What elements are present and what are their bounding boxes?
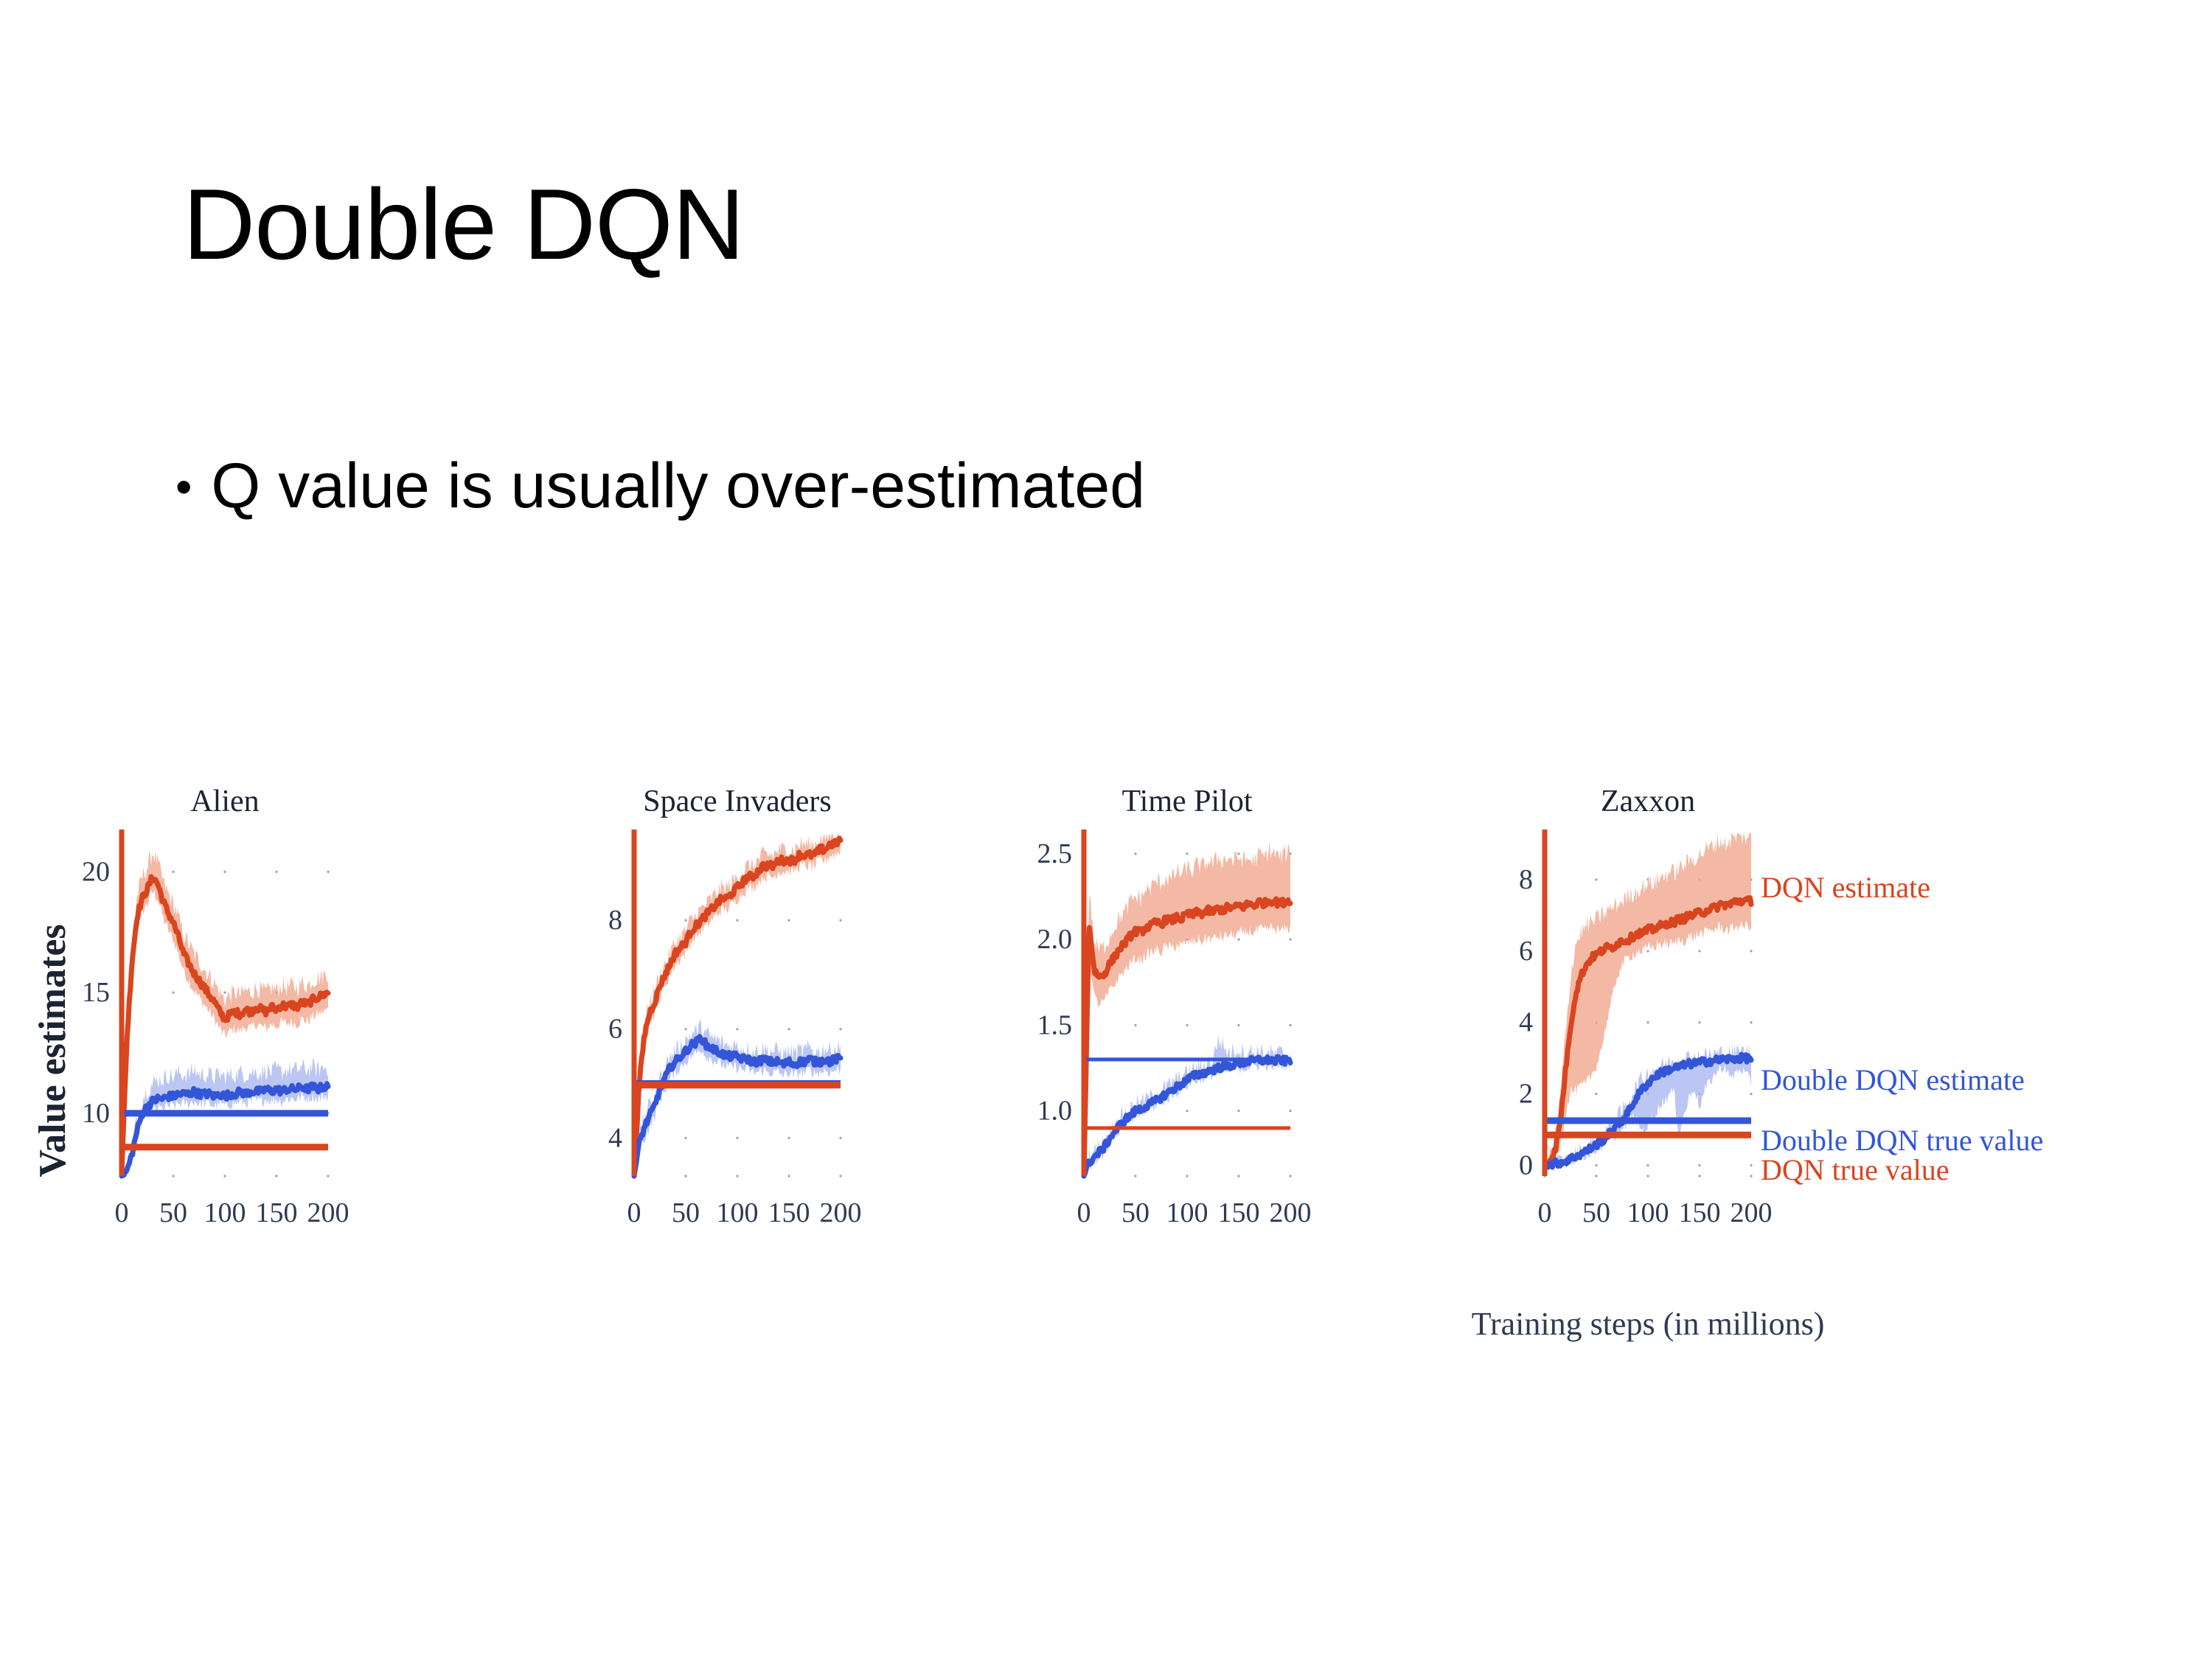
grid-dot: [1646, 1175, 1649, 1177]
series-line-double-dqn-estimate: [634, 1037, 841, 1176]
grid-dot: [1595, 1164, 1597, 1166]
y-tick-label: 1.0: [1037, 1096, 1073, 1127]
grid-dot: [1646, 950, 1649, 952]
legend-label-double-dqn-true-value: Double DQN true value: [1761, 1124, 2043, 1157]
y-axis-label: Value estimates: [32, 924, 74, 1177]
confidence-band-dqn: [122, 850, 328, 1173]
grid-dot: [736, 1175, 738, 1177]
grid-dot: [223, 871, 226, 873]
grid-dot: [839, 1137, 841, 1139]
y-tick-label: 15: [82, 977, 110, 1008]
grid-dot: [1595, 1175, 1597, 1177]
grid-dot: [1698, 1164, 1700, 1166]
grid-dot: [1237, 1110, 1239, 1112]
value-estimates-figure: Alien101520050100150200Space Invaders468…: [29, 752, 2183, 1416]
x-tick-label: 100: [717, 1197, 759, 1228]
grid-dot: [1237, 939, 1239, 941]
x-tick-label: 0: [627, 1197, 641, 1228]
grid-dot: [1134, 1175, 1136, 1177]
y-tick-label: 4: [1519, 1007, 1533, 1038]
grid-dot: [1698, 1175, 1700, 1177]
grid-dot: [1186, 1024, 1188, 1026]
y-tick-label: 20: [82, 856, 110, 887]
grid-dot: [684, 1137, 686, 1139]
x-tick-label: 0: [1077, 1197, 1091, 1228]
legend-label-double-dqn-estimate: Double DQN estimate: [1761, 1063, 2025, 1096]
grid-dot: [787, 1137, 790, 1139]
x-tick-label: 50: [159, 1197, 187, 1228]
grid-dot: [223, 992, 226, 994]
grid-dot: [1237, 1175, 1239, 1177]
chart-panel-space-invaders: Space Invaders468050100150200: [608, 785, 862, 1228]
grid-dot: [275, 1175, 277, 1177]
grid-dot: [1646, 1164, 1649, 1166]
grid-dot: [1237, 1024, 1239, 1026]
grid-dot: [1595, 878, 1597, 880]
grid-dot: [787, 919, 790, 921]
x-tick-label: 50: [1582, 1197, 1610, 1228]
grid-dot: [787, 1028, 790, 1030]
grid-dot: [1289, 939, 1291, 941]
x-tick-label: 0: [115, 1197, 129, 1228]
chart-title: Time Pilot: [1121, 785, 1252, 818]
grid-dot: [1750, 1175, 1752, 1177]
series-line-dqn-estimate: [634, 838, 841, 1176]
grid-dot: [736, 1028, 738, 1030]
x-tick-label: 100: [204, 1197, 246, 1228]
y-tick-label: 2.5: [1037, 838, 1073, 869]
confidence-band-double-dqn: [634, 1018, 841, 1176]
x-axis-label: Training steps (in millions): [1472, 1306, 1825, 1342]
grid-dot: [684, 1175, 686, 1177]
chart-panel-alien: Alien101520050100150200: [82, 785, 349, 1228]
y-tick-label: 0: [1519, 1150, 1533, 1180]
x-tick-label: 150: [1679, 1197, 1721, 1228]
x-tick-label: 150: [1218, 1197, 1260, 1228]
grid-dot: [1134, 852, 1136, 855]
y-tick-label: 8: [1519, 864, 1533, 895]
grid-dot: [684, 919, 686, 921]
grid-dot: [1750, 1164, 1752, 1166]
grid-dot: [1750, 1093, 1752, 1095]
legend-label-dqn-true-value: DQN true value: [1761, 1153, 1949, 1186]
y-tick-label: 6: [608, 1014, 622, 1045]
x-tick-label: 100: [1166, 1197, 1208, 1228]
legend-label-dqn-estimate: DQN estimate: [1761, 871, 1930, 904]
chart-panel-time-pilot: Time Pilot1.01.52.02.5050100150200: [1037, 785, 1312, 1228]
x-tick-label: 200: [307, 1197, 349, 1228]
page-title: Double DQN: [183, 168, 744, 280]
y-tick-label: 1.5: [1037, 1009, 1073, 1040]
x-tick-label: 200: [1270, 1197, 1312, 1228]
grid-dot: [172, 871, 174, 873]
grid-dot: [839, 919, 841, 921]
y-tick-label: 2.0: [1037, 924, 1073, 955]
grid-dot: [736, 1137, 738, 1139]
x-tick-label: 200: [820, 1197, 862, 1228]
grid-dot: [839, 1175, 841, 1177]
y-tick-label: 8: [608, 905, 622, 936]
grid-dot: [1698, 950, 1700, 952]
bullet-point-icon: •: [175, 463, 192, 510]
figure-svg: Alien101520050100150200Space Invaders468…: [29, 752, 2183, 1416]
y-tick-label: 10: [82, 1098, 110, 1129]
grid-dot: [1237, 852, 1239, 855]
x-tick-label: 0: [1538, 1197, 1552, 1228]
grid-dot: [327, 871, 329, 873]
grid-dot: [1289, 1024, 1291, 1026]
y-tick-label: 6: [1519, 936, 1533, 967]
bullet-list-item: • Q value is usually over-estimated: [175, 450, 1145, 523]
grid-dot: [1750, 1021, 1752, 1023]
grid-dot: [684, 1028, 686, 1030]
grid-dot: [1750, 950, 1752, 952]
grid-dot: [1186, 852, 1188, 855]
grid-dot: [736, 919, 738, 921]
grid-dot: [1646, 1021, 1649, 1023]
x-tick-label: 50: [1121, 1197, 1150, 1228]
chart-panel-zaxxon: Zaxxon02468050100150200: [1519, 785, 1773, 1228]
grid-dot: [1289, 1110, 1291, 1112]
x-tick-label: 100: [1627, 1197, 1669, 1228]
grid-dot: [1186, 1110, 1188, 1112]
grid-dot: [172, 1175, 174, 1177]
grid-dot: [172, 992, 174, 994]
grid-dot: [327, 1175, 329, 1177]
grid-dot: [1595, 1093, 1597, 1095]
confidence-band-double-dqn: [122, 1059, 328, 1176]
y-tick-label: 4: [608, 1122, 622, 1153]
x-tick-label: 150: [768, 1197, 810, 1228]
x-tick-label: 150: [256, 1197, 298, 1228]
grid-dot: [1186, 1175, 1188, 1177]
x-tick-label: 200: [1731, 1197, 1773, 1228]
grid-dot: [787, 1175, 790, 1177]
y-tick-label: 2: [1519, 1079, 1533, 1110]
grid-dot: [1134, 1024, 1136, 1026]
grid-dot: [1289, 1175, 1291, 1177]
grid-dot: [1698, 1021, 1700, 1023]
grid-dot: [839, 1028, 841, 1030]
grid-dot: [223, 1175, 226, 1177]
chart-title: Alien: [190, 785, 259, 818]
grid-dot: [275, 871, 277, 873]
x-tick-label: 50: [672, 1197, 700, 1228]
bullet-text: Q value is usually over-estimated: [211, 450, 1145, 523]
chart-title: Zaxxon: [1601, 785, 1695, 818]
chart-title: Space Invaders: [643, 785, 831, 818]
series-line-double-dqn-estimate: [1084, 1057, 1290, 1176]
